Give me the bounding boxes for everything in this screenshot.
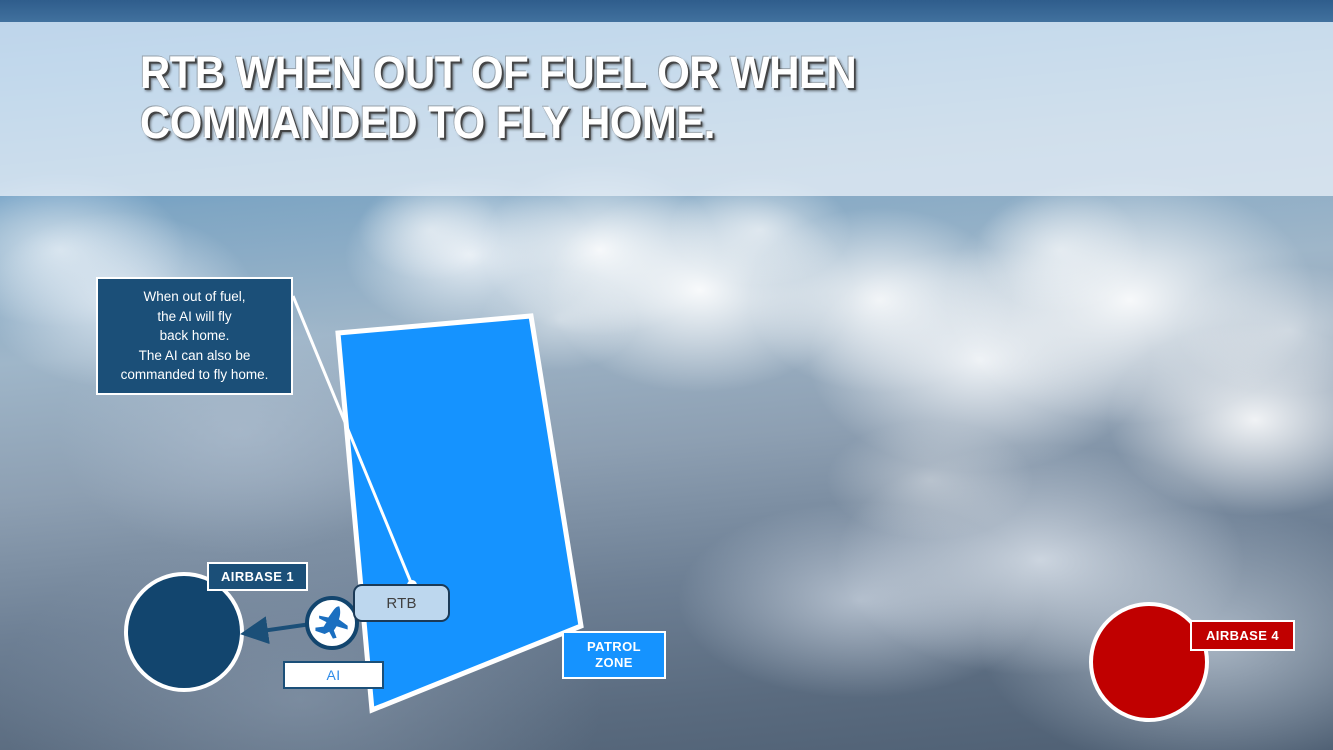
airbase-1-label[interactable]: AIRBASE 1 xyxy=(207,562,308,591)
patrol-zone-polygon[interactable] xyxy=(338,316,581,710)
slide-canvas: RTB WHEN OUT OF FUEL OR WHEN COMMANDED T… xyxy=(0,0,1333,750)
airbase-1-circle[interactable] xyxy=(126,574,242,690)
patrol-zone-label[interactable]: PATROL ZONE xyxy=(562,631,666,679)
airbase-4-label[interactable]: AIRBASE 4 xyxy=(1190,620,1295,651)
fuel-callout-text: When out of fuel, the AI will fly back h… xyxy=(121,287,269,385)
fuel-callout-box: When out of fuel, the AI will fly back h… xyxy=(96,277,293,395)
route-arrow xyxy=(248,624,311,633)
rtb-label[interactable]: RTB xyxy=(353,584,450,622)
ai-label[interactable]: AI xyxy=(283,661,384,689)
